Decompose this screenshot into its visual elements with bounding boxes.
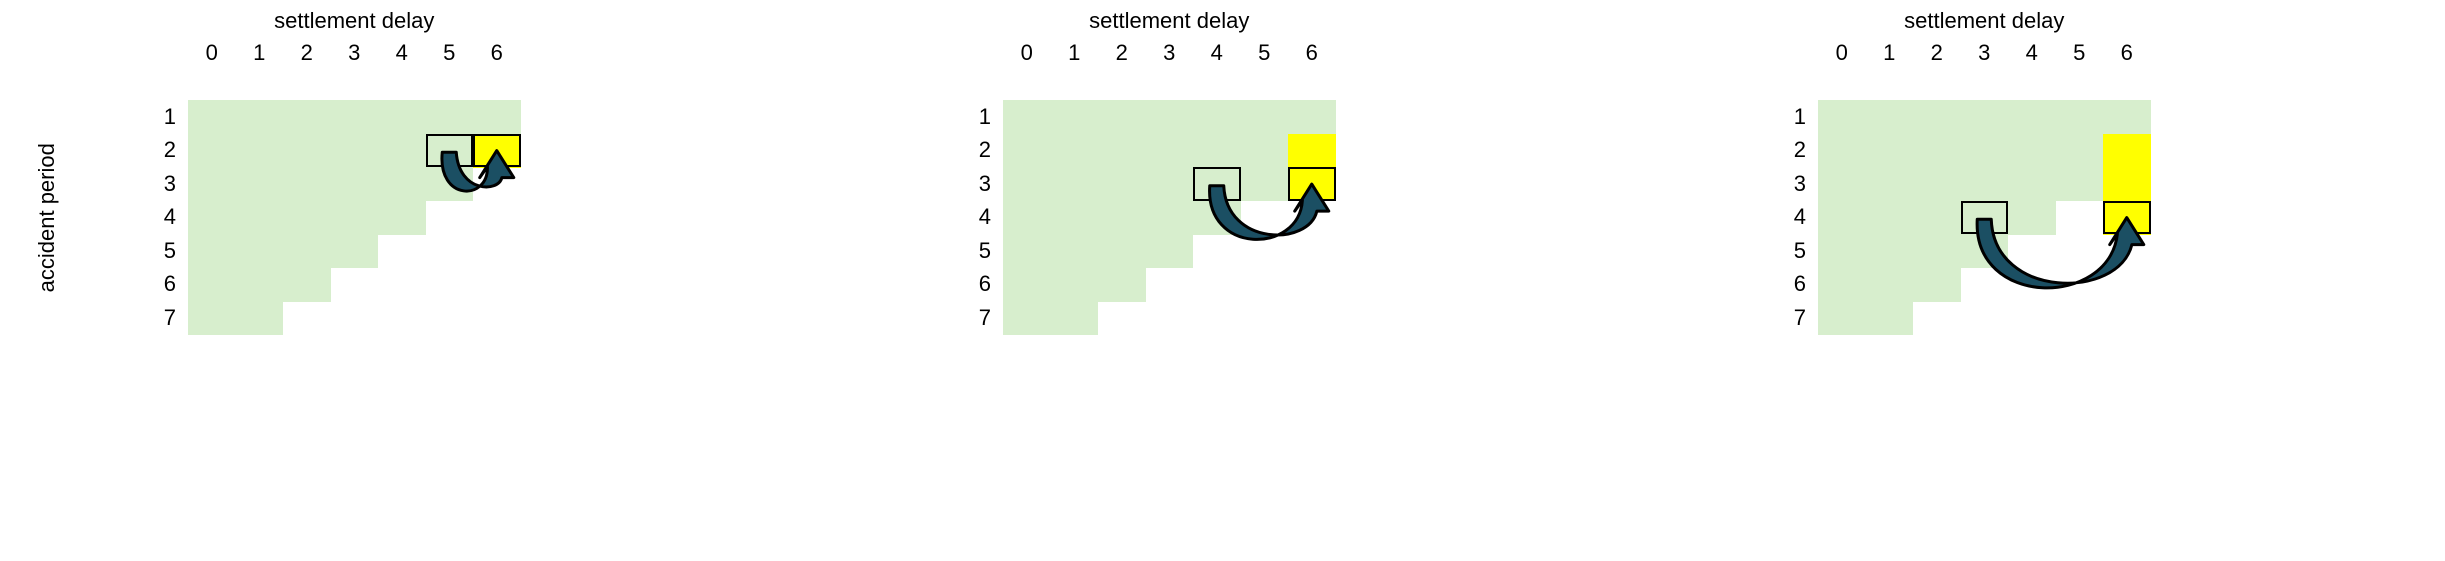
y-tick-label: 1 — [1766, 104, 1806, 130]
y-tick-label: 6 — [1766, 271, 1806, 297]
x-tick-label: 6 — [477, 40, 517, 66]
transition-arrow — [1818, 100, 2191, 415]
runoff-triangle-figure: settlement delayaccident period012345612… — [0, 0, 2445, 561]
x-tick-label: 5 — [1244, 40, 1284, 66]
y-tick-label: 5 — [136, 238, 176, 264]
y-axis-title: accident period — [34, 100, 60, 335]
transition-arrow — [188, 100, 561, 415]
x-tick-label: 5 — [2059, 40, 2099, 66]
y-tick-label: 4 — [136, 204, 176, 230]
x-tick-label: 6 — [1292, 40, 1332, 66]
x-tick-label: 2 — [1917, 40, 1957, 66]
x-tick-label: 3 — [1149, 40, 1189, 66]
arrow-body — [1977, 218, 2144, 288]
y-tick-label: 2 — [136, 137, 176, 163]
y-tick-label: 7 — [951, 305, 991, 331]
x-tick-label: 2 — [1102, 40, 1142, 66]
x-tick-label: 4 — [2012, 40, 2052, 66]
x-tick-label: 3 — [334, 40, 374, 66]
y-tick-label: 5 — [951, 238, 991, 264]
y-tick-label: 3 — [136, 171, 176, 197]
y-tick-label: 5 — [1766, 238, 1806, 264]
arrow-body — [1210, 184, 1329, 239]
y-tick-label: 4 — [951, 204, 991, 230]
x-tick-label: 1 — [1869, 40, 1909, 66]
x-axis-title: settlement delay — [843, 8, 1496, 34]
panel-2: settlement delay01234561234567 — [815, 0, 1630, 561]
y-tick-label: 4 — [1766, 204, 1806, 230]
y-tick-label: 1 — [951, 104, 991, 130]
y-tick-label: 6 — [136, 271, 176, 297]
x-tick-label: 1 — [239, 40, 279, 66]
arrow-body — [442, 151, 514, 191]
y-tick-label: 3 — [1766, 171, 1806, 197]
x-tick-label: 0 — [1007, 40, 1047, 66]
x-tick-label: 3 — [1964, 40, 2004, 66]
y-tick-label: 6 — [951, 271, 991, 297]
x-tick-label: 5 — [429, 40, 469, 66]
x-tick-label: 1 — [1054, 40, 1094, 66]
x-axis-title: settlement delay — [1658, 8, 2311, 34]
y-tick-label: 3 — [951, 171, 991, 197]
y-tick-label: 2 — [951, 137, 991, 163]
x-tick-label: 4 — [382, 40, 422, 66]
y-tick-label: 1 — [136, 104, 176, 130]
transition-arrow — [1003, 100, 1376, 415]
x-tick-label: 4 — [1197, 40, 1237, 66]
x-tick-label: 0 — [1822, 40, 1862, 66]
panel-1: settlement delayaccident period012345612… — [0, 0, 815, 561]
panel-3: settlement delay01234561234567 — [1630, 0, 2445, 561]
x-tick-label: 2 — [287, 40, 327, 66]
x-axis-title: settlement delay — [28, 8, 681, 34]
runoff-grid — [1818, 100, 2151, 335]
x-tick-label: 6 — [2107, 40, 2147, 66]
y-tick-label: 7 — [1766, 305, 1806, 331]
runoff-grid — [188, 100, 521, 335]
y-tick-label: 7 — [136, 305, 176, 331]
x-tick-label: 0 — [192, 40, 232, 66]
y-tick-label: 2 — [1766, 137, 1806, 163]
runoff-grid — [1003, 100, 1336, 335]
